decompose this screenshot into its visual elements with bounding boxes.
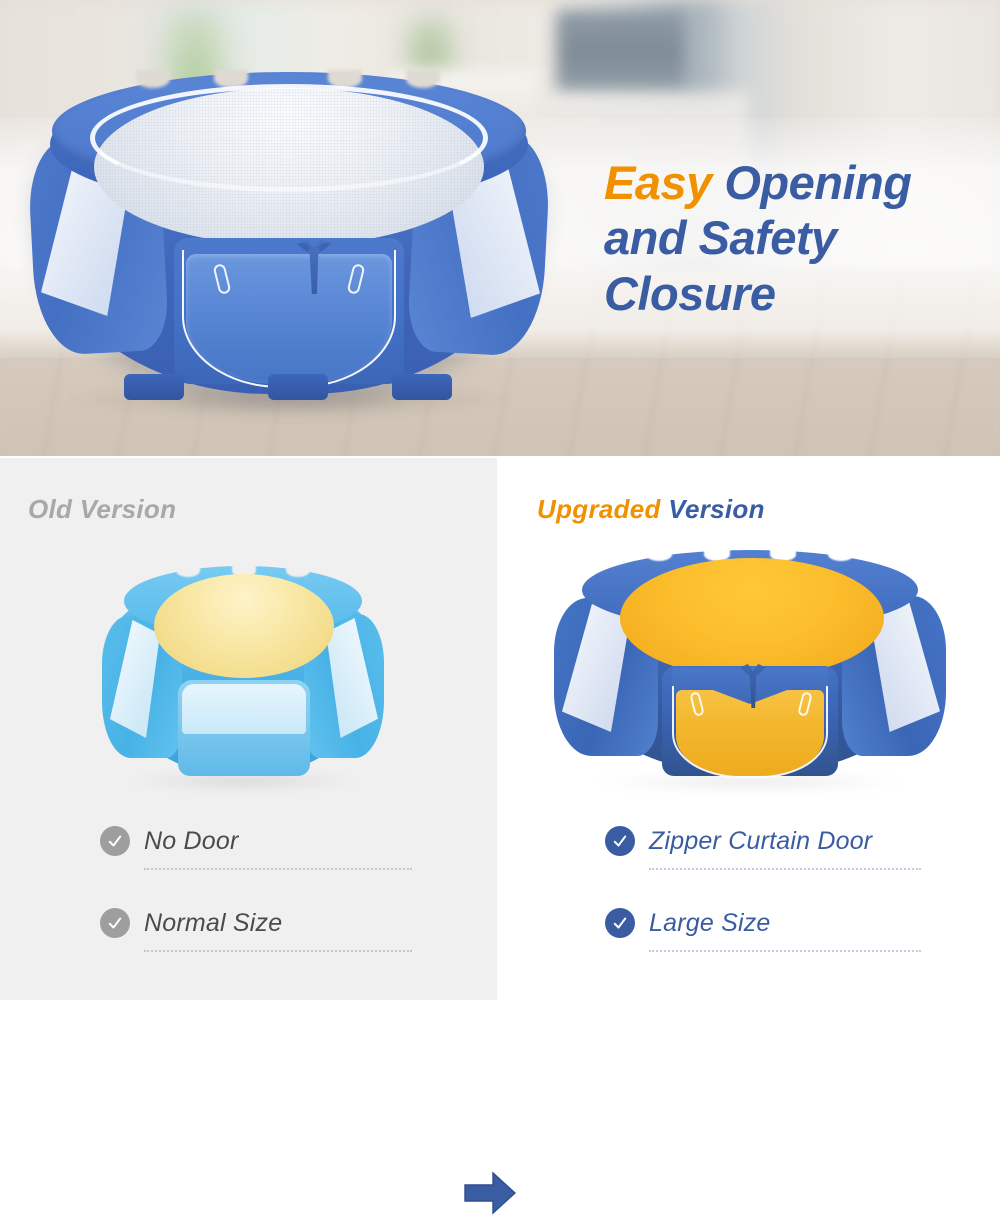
old-feature-row-2: Normal Size (100, 908, 282, 938)
playpen-rim-notch (828, 548, 854, 561)
arrow-right-icon (463, 1170, 517, 1216)
background-picture-frame (556, 10, 686, 100)
upgraded-feature-row-1: Zipper Curtain Door (605, 826, 872, 856)
old-feature-label: No Door (144, 827, 239, 856)
playpen-rim-notch (136, 70, 170, 88)
old-version-label: Old Version (28, 494, 176, 525)
upgraded-feature-label: Large Size (649, 909, 771, 938)
upgraded-version-product-playpen (554, 540, 946, 796)
old-feature-label: Normal Size (144, 909, 282, 938)
playpen-foot (268, 374, 328, 400)
feature-divider (649, 868, 921, 870)
upgraded-label-rest: Version (661, 494, 765, 524)
feature-divider (144, 950, 412, 952)
headline-line1-rest: Opening (712, 156, 912, 209)
check-icon (605, 826, 635, 856)
headline-accent-word: Easy (604, 156, 712, 209)
upgraded-label-accent: Upgraded (537, 494, 661, 524)
playpen-rim-notch (646, 548, 672, 561)
hero-headline: Easy Opening and Safety Closure (604, 155, 994, 321)
playpen-foot (124, 374, 184, 400)
comparison-section: Old Version No Door (0, 458, 1000, 1000)
playpen-rim-notch (406, 70, 440, 88)
hero-product-playpen (28, 58, 548, 410)
hero-section: Easy Opening and Safety Closure (0, 0, 1000, 456)
playpen-inner-lip (90, 84, 488, 192)
upgraded-version-label: Upgraded Version (537, 494, 765, 525)
upgraded-feature-row-2: Large Size (605, 908, 771, 938)
check-icon (100, 826, 130, 856)
check-icon (100, 908, 130, 938)
playpen-front-mesh-window (182, 684, 306, 734)
feature-divider (649, 950, 921, 952)
playpen-rim-notch (286, 564, 310, 577)
upgraded-feature-label: Zipper Curtain Door (649, 827, 872, 856)
old-version-product-playpen (102, 554, 384, 796)
old-feature-row-1: No Door (100, 826, 239, 856)
playpen-foot (392, 374, 452, 400)
playpen-floor-mat (154, 574, 334, 678)
playpen-floor-mat (620, 558, 884, 678)
headline-line2: and Safety (604, 211, 837, 264)
feature-divider (144, 868, 412, 870)
headline-line3: Closure (604, 267, 776, 320)
check-icon (605, 908, 635, 938)
old-version-pane: Old Version No Door (0, 458, 497, 1000)
playpen-rim-notch (176, 564, 200, 577)
